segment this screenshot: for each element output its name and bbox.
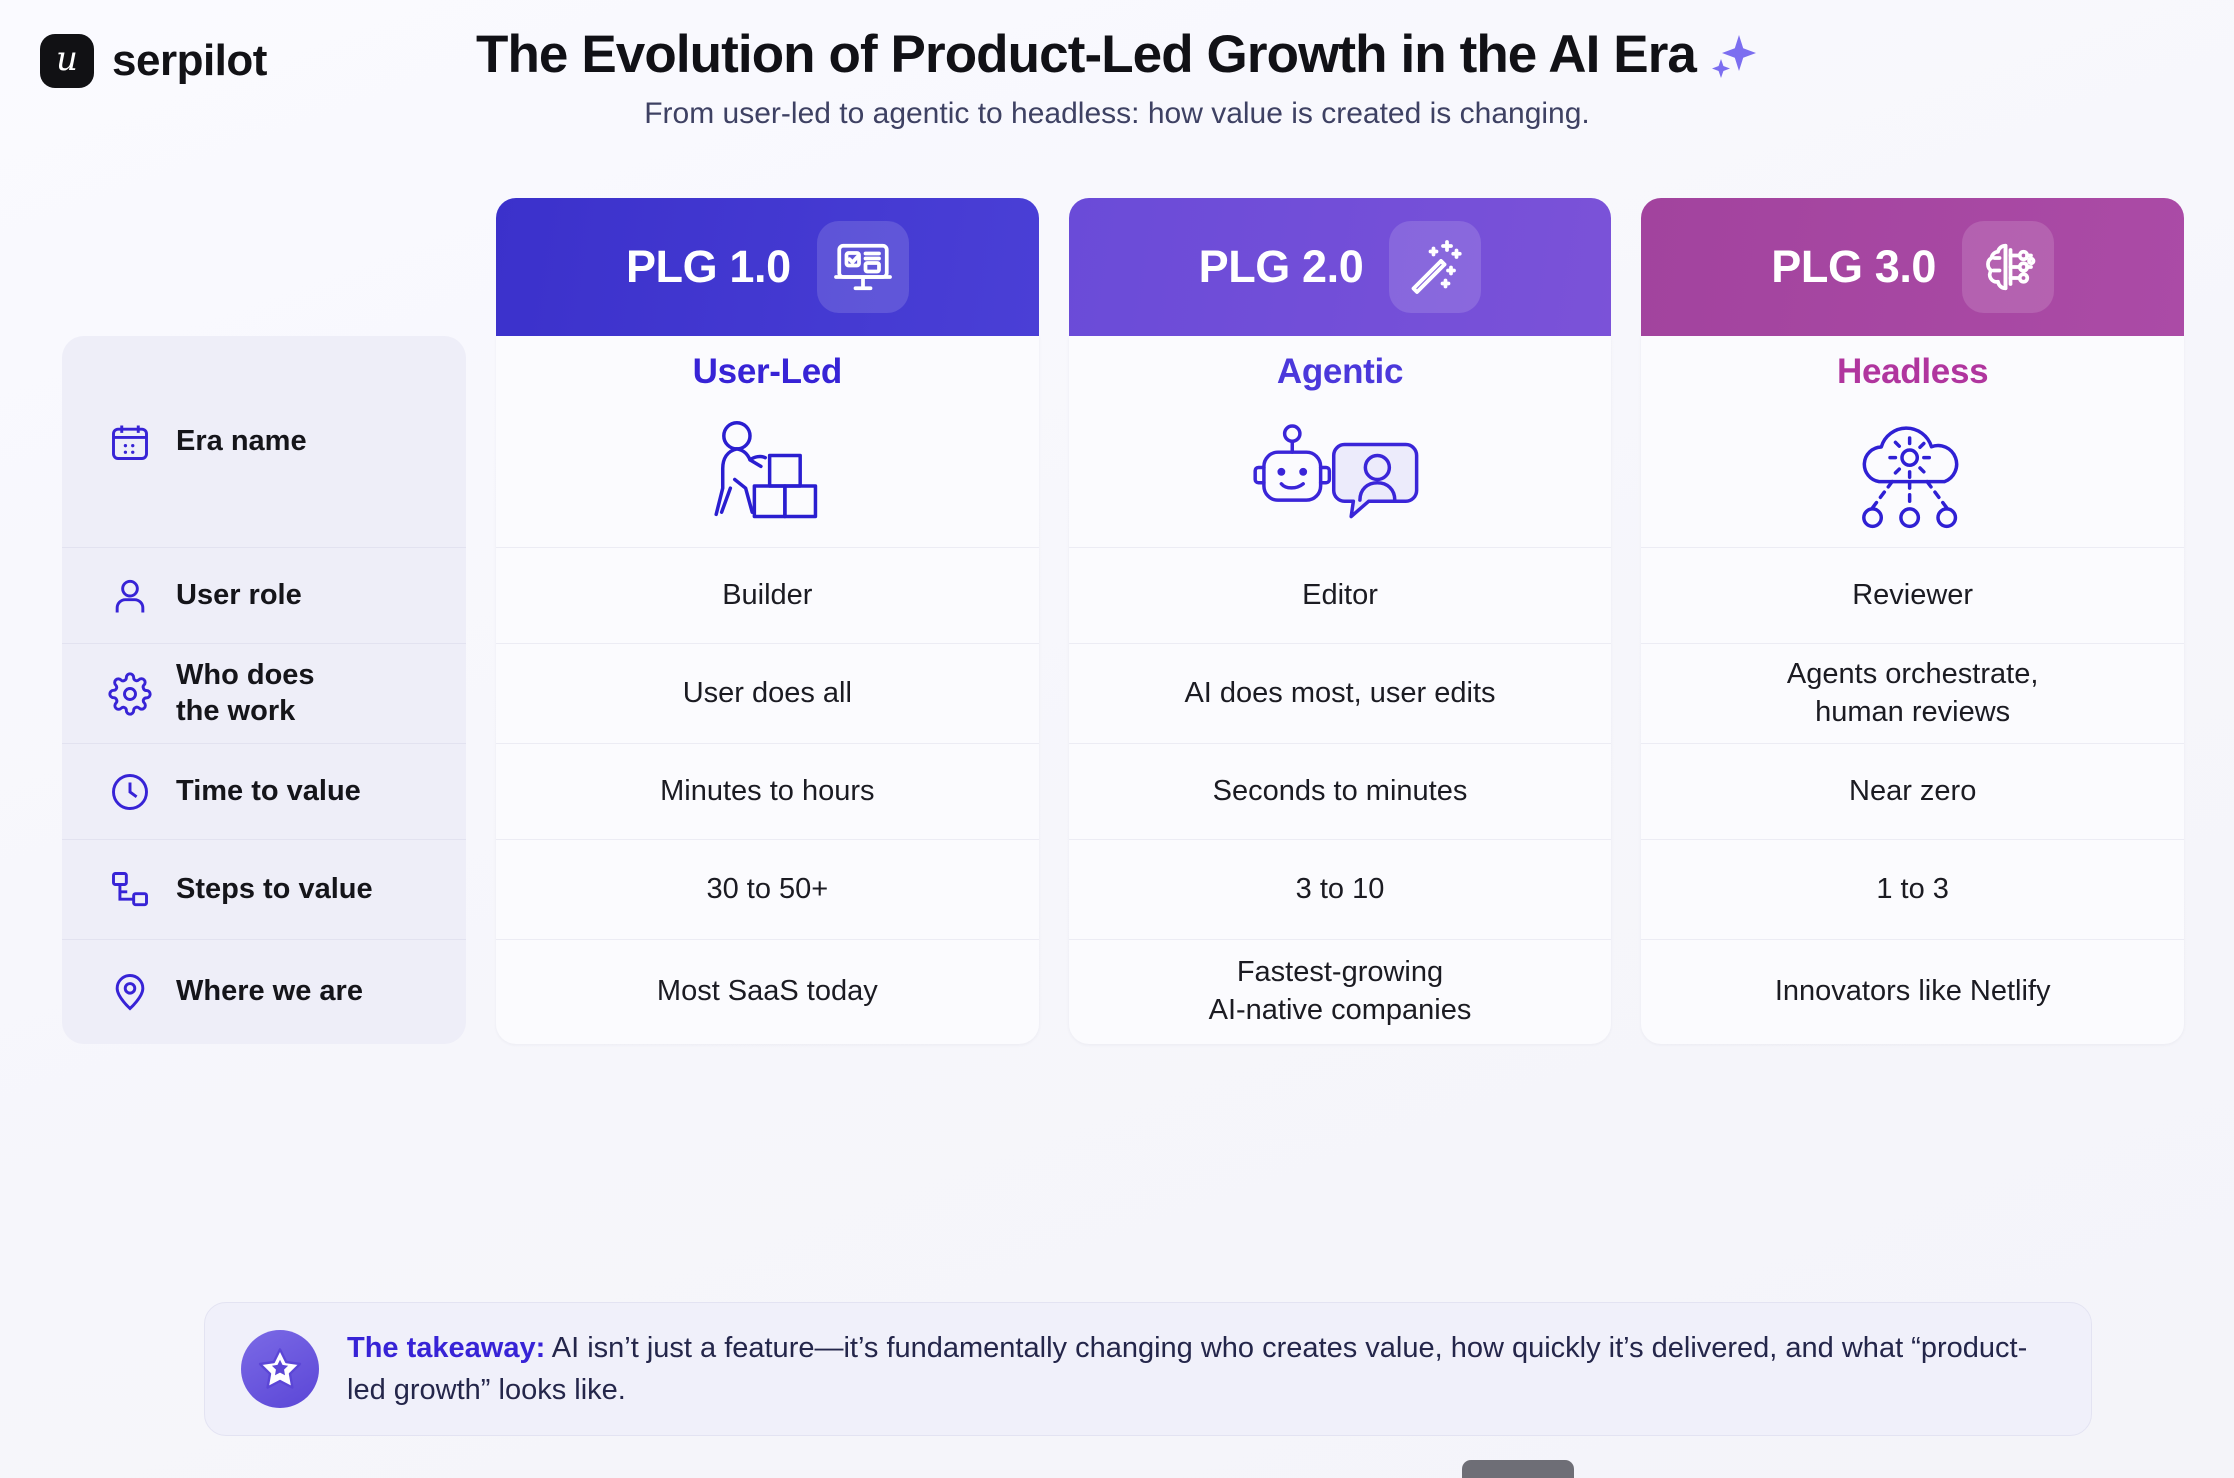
robot-chat-icon [1253, 414, 1428, 534]
cell-steps-to-value: 3 to 10 [1069, 840, 1612, 940]
cell-who-does-the-work: AI does most, user edits [1069, 644, 1612, 744]
cell-user-role: Editor [1069, 548, 1612, 644]
cloud-gear-nodes-icon [1842, 414, 1984, 534]
column-body-plg-3: Headless [1641, 336, 2184, 1044]
era-name-value: User-Led [693, 349, 842, 395]
sidebar-item-label: Era name [176, 424, 307, 459]
monitor-checklist-icon [817, 221, 909, 313]
era-column-plg-2: PLG 2.0 Agentic [1069, 198, 1612, 1044]
column-version-label: PLG 3.0 [1771, 241, 1936, 293]
comparison-matrix: Era name User role [62, 198, 2184, 1044]
cell-time-to-value: Seconds to minutes [1069, 744, 1612, 840]
star-badge-icon [241, 1330, 319, 1408]
takeaway-text: The takeaway: AI isn’t just a feature—it… [347, 1327, 2055, 1411]
cell-time-to-value: Minutes to hours [496, 744, 1039, 840]
page-subtitle: From user-led to agentic to headless: ho… [0, 97, 2234, 131]
page-title-text: The Evolution of Product-Led Growth in t… [476, 24, 1696, 85]
cell-who-does-the-work: User does all [496, 644, 1039, 744]
sidebar-item-steps-to-value: Steps to value [62, 840, 466, 940]
brain-circuit-icon [1962, 221, 2054, 313]
sidebar-item-where-we-are: Where we are [62, 940, 466, 1044]
takeaway-body: AI isn’t just a feature—it’s fundamental… [347, 1332, 2027, 1406]
sidebar-item-who-does-the-work: Who doesthe work [62, 644, 466, 744]
cell-where-we-are: Fastest-growing AI-native companies [1069, 940, 1612, 1044]
cell-steps-to-value: 1 to 3 [1641, 840, 2184, 940]
page-title: The Evolution of Product-Led Growth in t… [476, 24, 1758, 85]
column-header-plg-2: PLG 2.0 [1069, 198, 1612, 336]
cell-line-1: Fastest-growing [1237, 954, 1443, 992]
sidebar-item-user-role: User role [62, 548, 466, 644]
cell-user-role: Builder [496, 548, 1039, 644]
user-icon [108, 574, 152, 618]
gear-icon [108, 672, 152, 716]
hierarchy-icon [108, 868, 152, 912]
era-column-plg-3: PLG 3.0 [1641, 198, 2184, 1044]
sidebar-item-label: User role [176, 578, 302, 613]
takeaway-banner: The takeaway: AI isn’t just a feature—it… [204, 1302, 2092, 1436]
cell-era-name: User-Led [496, 336, 1039, 548]
cell-line-1: Agents orchestrate, [1787, 656, 2038, 694]
cell-line-1: Most SaaS today [657, 973, 878, 1011]
infographic-page: u serpilot The Evolution of Product-Led … [0, 0, 2234, 1478]
sparkles-icon [1706, 29, 1758, 81]
clock-icon [108, 770, 152, 814]
sidebar-item-label: Steps to value [176, 872, 373, 907]
cell-line-1: Innovators like Netlify [1775, 973, 2051, 1011]
cell-time-to-value: Near zero [1641, 744, 2184, 840]
sidebar-item-time-to-value: Time to value [62, 744, 466, 840]
header: The Evolution of Product-Led Growth in t… [0, 24, 2234, 131]
era-name-value: Headless [1837, 349, 1988, 395]
sidebar-item-label: Time to value [176, 774, 361, 809]
sidebar-item-label: Who doesthe work [176, 658, 315, 729]
column-version-label: PLG 2.0 [1199, 241, 1364, 293]
cell-user-role: Reviewer [1641, 548, 2184, 644]
row-label-sidebar: Era name User role [62, 336, 466, 1044]
cell-line-2: AI-native companies [1209, 992, 1472, 1030]
cell-steps-to-value: 30 to 50+ [496, 840, 1039, 940]
calendar-icon [108, 420, 152, 464]
sidebar-item-era-name: Era name [62, 336, 466, 548]
cell-line-2: human reviews [1815, 694, 2010, 732]
era-column-plg-1: PLG 1.0 User-Led [496, 198, 1039, 1044]
column-version-label: PLG 1.0 [626, 241, 791, 293]
column-body-plg-1: User-Led Builder User [496, 336, 1039, 1044]
cell-era-name: Headless [1641, 336, 2184, 548]
cell-who-does-the-work: Agents orchestrate, human reviews [1641, 644, 2184, 744]
sidebar-item-label: Where we are [176, 974, 363, 1009]
cell-era-name: Agentic [1069, 336, 1612, 548]
person-stacking-blocks-icon [702, 414, 833, 534]
scrollbar-thumb[interactable] [1462, 1460, 1574, 1478]
era-name-value: Agentic [1277, 349, 1403, 395]
column-body-plg-2: Agentic [1069, 336, 1612, 1044]
takeaway-lead: The takeaway: [347, 1332, 545, 1364]
cell-where-we-are: Innovators like Netlify [1641, 940, 2184, 1044]
magic-wand-sparkles-icon [1389, 221, 1481, 313]
column-header-plg-1: PLG 1.0 [496, 198, 1039, 336]
cell-where-we-are: Most SaaS today [496, 940, 1039, 1044]
column-header-plg-3: PLG 3.0 [1641, 198, 2184, 336]
map-pin-icon [108, 970, 152, 1014]
